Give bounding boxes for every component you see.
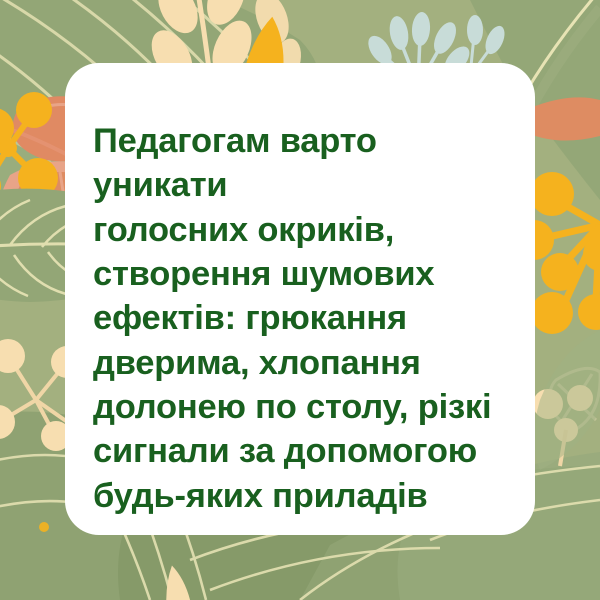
quote-card: Педагогам варто уникати голосних окриків… <box>65 63 535 535</box>
quote-text: Педагогам варто уникати голосних окриків… <box>93 119 507 518</box>
quote-poster: Педагогам варто уникати голосних окриків… <box>0 0 600 600</box>
